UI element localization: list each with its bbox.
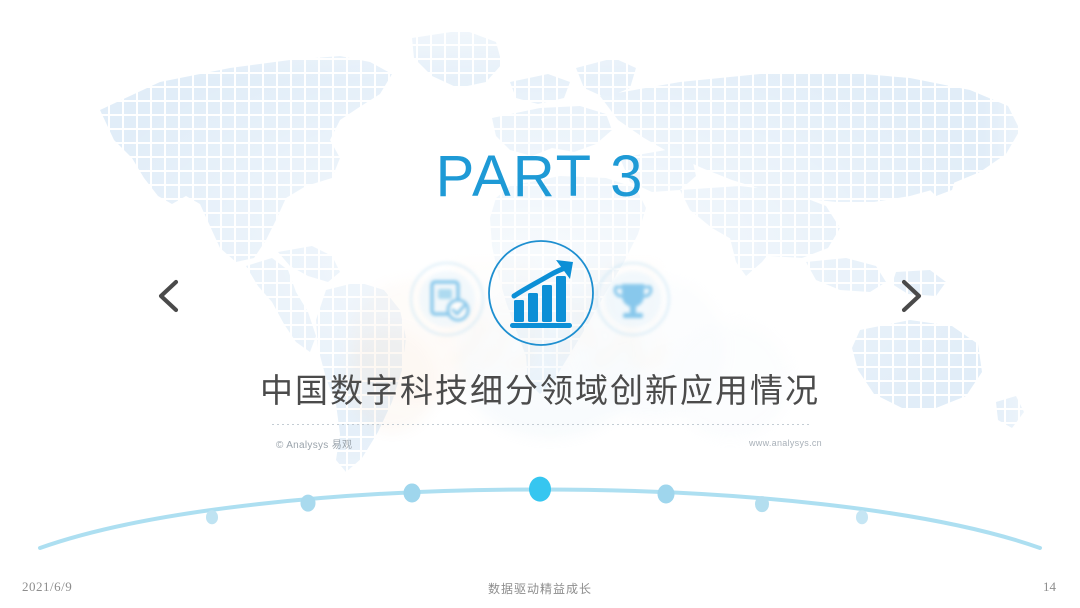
- icon-cluster: [408, 238, 672, 362]
- part-title: PART 3: [0, 148, 1080, 206]
- progress-dot[interactable]: [755, 496, 769, 512]
- slide-root: 易观 PART 3: [0, 0, 1080, 608]
- footer-tagline: 数据驱动精益成长: [0, 580, 1080, 597]
- progress-arc: [0, 462, 1080, 552]
- progress-dot-active[interactable]: [529, 477, 551, 502]
- progress-dot[interactable]: [658, 484, 675, 503]
- progress-dot[interactable]: [301, 495, 316, 512]
- bar-chart-growth-icon: [486, 238, 596, 348]
- copyright-credit: © Analysys 易观: [276, 436, 352, 451]
- progress-dot[interactable]: [404, 483, 421, 502]
- progress-dot[interactable]: [206, 510, 218, 524]
- slide-footer: 2021/6/9 数据驱动精益成长 14: [0, 568, 1080, 608]
- document-check-icon: [408, 260, 486, 338]
- arc-line: [0, 462, 1080, 552]
- page-title: 中国数字科技细分领域创新应用情况: [0, 372, 1080, 410]
- next-slide-button[interactable]: [888, 272, 932, 320]
- chevron-right-icon: [888, 272, 932, 320]
- chevron-left-icon: [148, 272, 192, 320]
- website-url: www.analysys.cn: [749, 438, 822, 448]
- trophy-icon: [594, 260, 672, 338]
- prev-slide-button[interactable]: [148, 272, 192, 320]
- page-number: 14: [1043, 579, 1056, 595]
- title-divider: [272, 424, 812, 425]
- progress-dot[interactable]: [856, 510, 868, 524]
